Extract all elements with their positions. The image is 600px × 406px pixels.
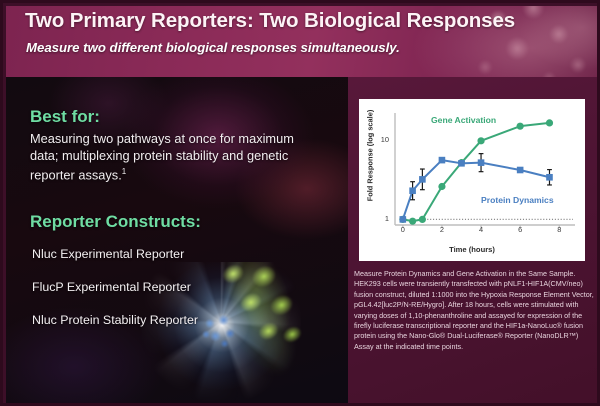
reporter-constructs-heading: Reporter Constructs: — [30, 212, 201, 232]
figure-caption: Measure Protein Dynamics and Gene Activa… — [354, 269, 594, 352]
chart-y-tick: 10 — [375, 135, 389, 144]
chart-x-tick: 6 — [515, 225, 525, 234]
list-item: FlucP Experimental Reporter — [32, 280, 282, 295]
chart-x-axis-label: Time (hours) — [359, 245, 585, 254]
series-label-protein-dynamics: Protein Dynamics — [481, 195, 554, 205]
best-for-text: Measuring two pathways at once for maxim… — [30, 131, 294, 182]
chart-card: Fold Response (log scale) Time (hours) 1… — [359, 99, 585, 261]
footnote-marker: 1 — [122, 167, 126, 176]
best-for-heading: Best for: — [30, 107, 100, 127]
chart-x-tick: 8 — [554, 225, 564, 234]
chart-x-tick: 0 — [398, 225, 408, 234]
page-subtitle: Measure two different biological respons… — [26, 40, 400, 55]
chart-y-axis-label: Fold Response (log scale) — [366, 101, 375, 211]
best-for-body: Measuring two pathways at once for maxim… — [30, 131, 320, 184]
page-title: Two Primary Reporters: Two Biological Re… — [25, 9, 515, 33]
series-label-gene-activation: Gene Activation — [431, 115, 496, 125]
chart-y-tick: 1 — [375, 214, 389, 223]
right-figure-panel: Fold Response (log scale) Time (hours) 1… — [348, 77, 600, 406]
list-item: Nluc Protein Stability Reporter — [32, 313, 282, 328]
list-item: Nluc Experimental Reporter — [32, 247, 282, 262]
chart-x-tick: 4 — [476, 225, 486, 234]
poster-root: Two Primary Reporters: Two Biological Re… — [0, 0, 600, 406]
chart-x-tick: 2 — [437, 225, 447, 234]
